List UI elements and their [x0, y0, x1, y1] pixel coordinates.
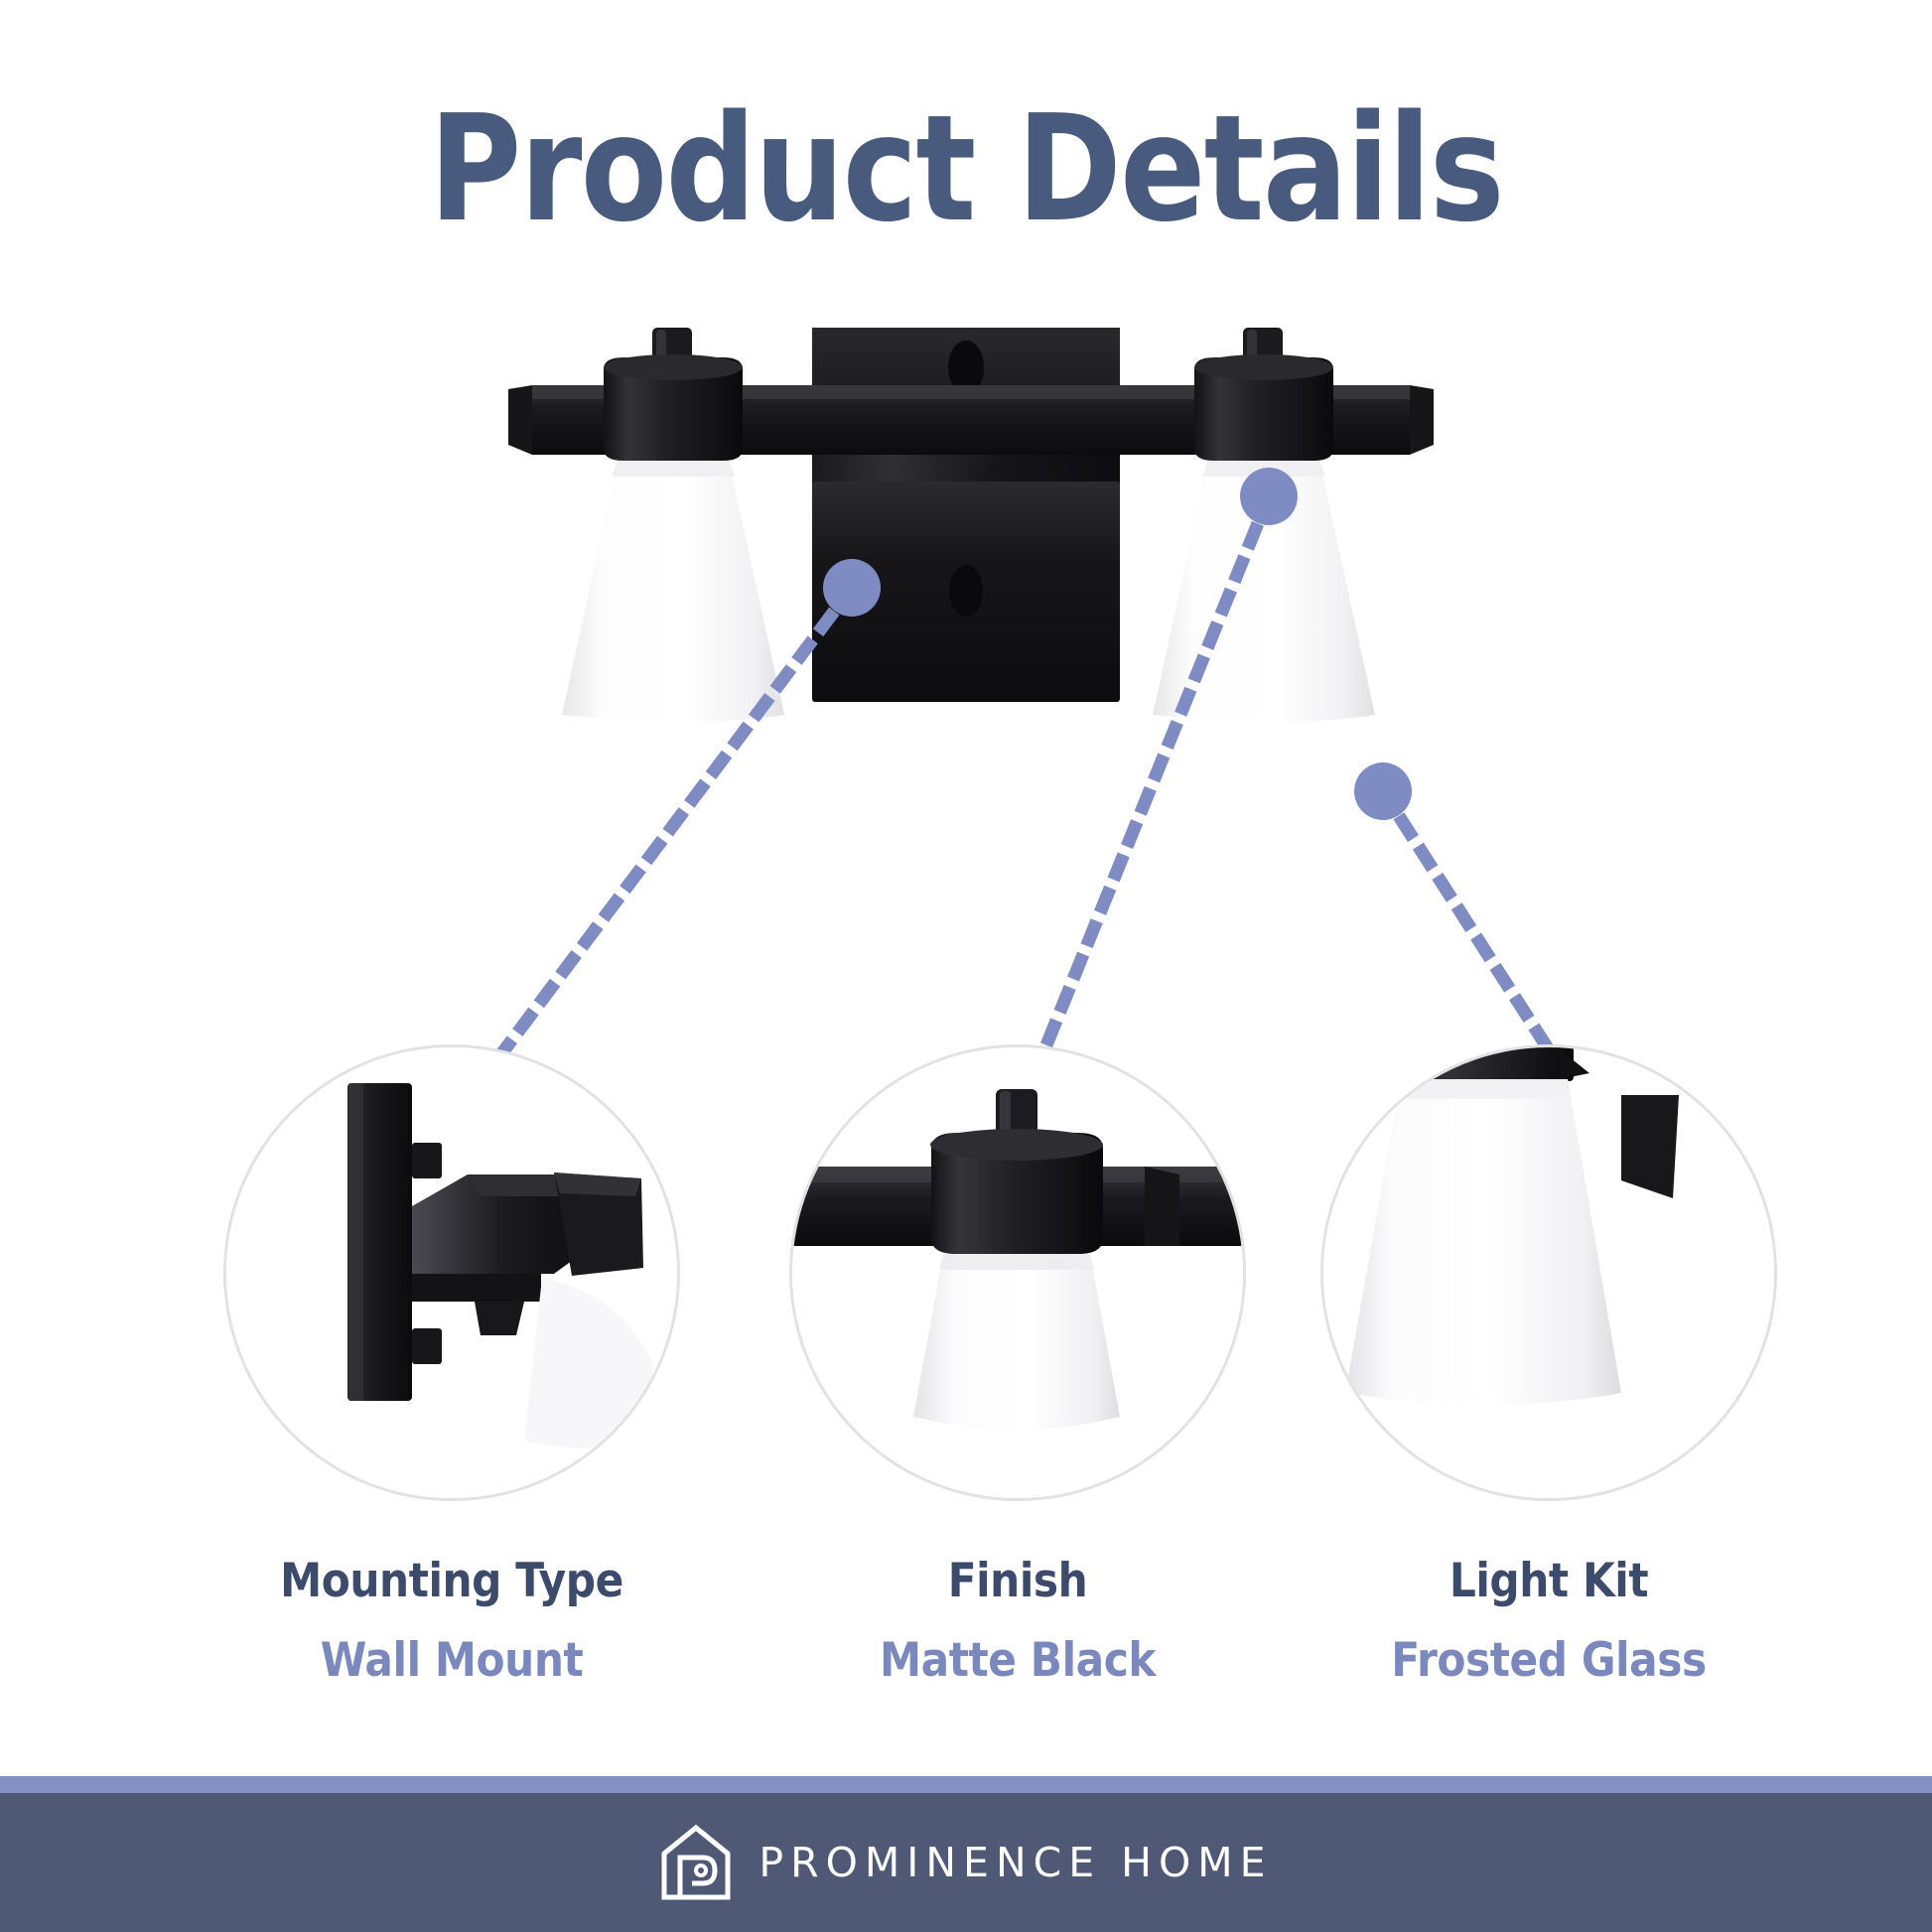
prominence-home-house-p-logo-icon — [659, 1824, 733, 1901]
product-details-infographic: Product Details — [0, 0, 1932, 1932]
caption-finish: Finish Matte Black — [740, 1555, 1296, 1688]
footer-accent-stripe — [0, 1776, 1932, 1793]
brand-name: PROMINENCE HOME — [759, 1839, 1272, 1886]
frosted-glass-shade-right — [1153, 461, 1375, 722]
hero-product-image — [0, 328, 1932, 963]
caption-value-finish: Matte Black — [767, 1634, 1268, 1688]
caption-mounting-type: Mounting Type Wall Mount — [174, 1555, 730, 1688]
frosted-glass-shade-left — [562, 461, 784, 722]
page-title: Product Details — [135, 95, 1797, 242]
caption-title-light-kit: Light Kit — [1299, 1555, 1799, 1608]
mounting-type-image — [223, 1044, 680, 1501]
footer-brand-bar: PROMINENCE HOME — [0, 1793, 1932, 1932]
caption-title-mounting-type: Mounting Type — [202, 1555, 702, 1608]
caption-value-light-kit: Frosted Glass — [1299, 1634, 1799, 1688]
detail-circle-mounting-type — [213, 1044, 690, 1541]
caption-light-kit: Light Kit Frosted Glass — [1271, 1555, 1827, 1688]
caption-value-mounting-type: Wall Mount — [202, 1634, 702, 1688]
light-kit-image — [1320, 1044, 1777, 1501]
finish-image — [789, 1044, 1246, 1501]
caption-title-finish: Finish — [767, 1555, 1268, 1608]
detail-circle-finish — [779, 1044, 1256, 1541]
detail-circle-light-kit — [1311, 1044, 1787, 1541]
